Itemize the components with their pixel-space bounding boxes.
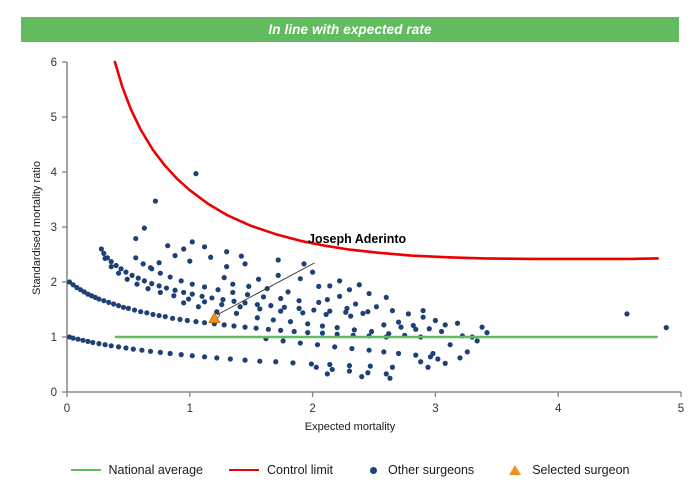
- scatter-point: [157, 283, 162, 288]
- scatter-point: [85, 339, 90, 344]
- scatter-point: [96, 296, 101, 301]
- scatter-point: [190, 282, 195, 287]
- y-tick-label: 5: [51, 112, 57, 124]
- x-tick-label: 1: [187, 403, 193, 415]
- legend-label-other-surgeons: Other surgeons: [388, 463, 474, 477]
- scatter-point: [311, 307, 316, 312]
- scatter-point: [314, 365, 319, 370]
- scatter-point: [296, 298, 301, 303]
- scatter-point: [374, 304, 379, 309]
- scatter-point: [457, 355, 462, 360]
- scatter-point: [222, 322, 227, 327]
- selected-surgeon-annotation: Joseph Aderinto: [308, 232, 406, 246]
- scatter-point: [261, 294, 266, 299]
- scatter-point: [298, 340, 303, 345]
- funnel-plot-svg: 0123456012345: [0, 0, 700, 445]
- scatter-point: [136, 276, 141, 281]
- green-line-icon: [71, 469, 101, 471]
- scatter-point: [181, 290, 186, 295]
- scatter-point: [193, 171, 198, 176]
- scatter-point: [144, 310, 149, 315]
- scatter-point: [268, 303, 273, 308]
- x-axis-title: Expected mortality: [0, 421, 700, 433]
- scatter-point: [102, 342, 107, 347]
- scatter-point: [118, 266, 123, 271]
- legend-label-selected-surgeon: Selected surgeon: [532, 463, 629, 477]
- scatter-point: [353, 301, 358, 306]
- scatter-point: [121, 305, 126, 310]
- scatter-point: [177, 317, 182, 322]
- scatter-point: [396, 351, 401, 356]
- scatter-point: [443, 361, 448, 366]
- y-tick-label: 0: [51, 387, 57, 399]
- y-tick-label: 4: [51, 167, 58, 179]
- navy-dot-icon: [370, 467, 377, 474]
- scatter-point: [228, 356, 233, 361]
- scatter-point: [337, 278, 342, 283]
- scatter-point: [301, 261, 306, 266]
- legend-item-national-average[interactable]: National average: [71, 463, 204, 477]
- scatter-point: [172, 288, 177, 293]
- scatter-point: [255, 302, 260, 307]
- scatter-point: [202, 299, 207, 304]
- scatter-point: [347, 287, 352, 292]
- scatter-point: [149, 281, 154, 286]
- scatter-point: [111, 301, 116, 306]
- scatter-point: [116, 303, 121, 308]
- scatter-point: [330, 367, 335, 372]
- scatter-point: [230, 282, 235, 287]
- scatter-point: [465, 349, 470, 354]
- scatter-point: [142, 278, 147, 283]
- scatter-point: [365, 309, 370, 314]
- scatter-point: [190, 239, 195, 244]
- x-tick-label: 2: [309, 403, 315, 415]
- scatter-point: [126, 306, 131, 311]
- scatter-point: [421, 308, 426, 313]
- scatter-point: [209, 295, 214, 300]
- scatter-point: [171, 293, 176, 298]
- scatter-point: [257, 359, 262, 364]
- scatter-point: [369, 329, 374, 334]
- scatter-point: [214, 355, 219, 360]
- scatter-point: [106, 300, 111, 305]
- scatter-point: [332, 344, 337, 349]
- scatter-point: [109, 264, 114, 269]
- scatter-point: [157, 313, 162, 318]
- chart-plot-area: 0123456012345 Expected mortality Standar…: [0, 0, 700, 445]
- scatter-point: [102, 256, 107, 261]
- y-tick-label: 6: [51, 57, 57, 69]
- scatter-point: [239, 254, 244, 259]
- scatter-point: [320, 323, 325, 328]
- scatter-point: [421, 315, 426, 320]
- scatter-point: [305, 321, 310, 326]
- scatter-point: [300, 310, 305, 315]
- chart-legend: National average Control limit Other sur…: [0, 455, 700, 485]
- legend-label-national-average: National average: [109, 463, 204, 477]
- scatter-point: [381, 322, 386, 327]
- scatter-point: [327, 362, 332, 367]
- scatter-point: [138, 309, 143, 314]
- scatter-point: [157, 260, 162, 265]
- scatter-point: [246, 284, 251, 289]
- scatter-point: [387, 376, 392, 381]
- scatter-point: [219, 302, 224, 307]
- scatter-point: [222, 275, 227, 280]
- x-tick-label: 4: [555, 403, 562, 415]
- scatter-point: [484, 330, 489, 335]
- scatter-point: [231, 299, 236, 304]
- scatter-point: [242, 261, 247, 266]
- scatter-point: [365, 370, 370, 375]
- scatter-point: [234, 311, 239, 316]
- scatter-point: [170, 316, 175, 321]
- legend-label-control-limit: Control limit: [267, 463, 333, 477]
- scatter-point: [315, 342, 320, 347]
- scatter-point: [316, 300, 321, 305]
- scatter-point: [254, 326, 259, 331]
- scatter-point: [406, 311, 411, 316]
- scatter-point: [193, 319, 198, 324]
- scatter-point: [99, 246, 104, 251]
- scatter-point: [413, 327, 418, 332]
- scatter-point: [288, 319, 293, 324]
- scatter-point: [158, 350, 163, 355]
- scatter-point: [148, 265, 153, 270]
- scatter-point: [109, 259, 114, 264]
- scatter-point: [153, 199, 158, 204]
- scatter-point: [215, 287, 220, 292]
- scatter-point: [208, 255, 213, 260]
- scatter-points-group: [67, 171, 669, 381]
- scatter-point: [320, 331, 325, 336]
- scatter-point: [185, 318, 190, 323]
- scatter-point: [224, 249, 229, 254]
- scatter-point: [158, 290, 163, 295]
- scatter-point: [133, 236, 138, 241]
- scatter-point: [123, 270, 128, 275]
- scatter-point: [164, 285, 169, 290]
- scatter-point: [278, 296, 283, 301]
- scatter-point: [145, 286, 150, 291]
- scatter-point: [242, 325, 247, 330]
- scatter-point: [273, 359, 278, 364]
- scatter-point: [172, 253, 177, 258]
- scatter-point: [296, 306, 301, 311]
- scatter-point: [664, 325, 669, 330]
- scatter-point: [390, 308, 395, 313]
- scatter-point: [271, 317, 276, 322]
- scatter-point: [305, 330, 310, 335]
- scatter-point: [276, 257, 281, 262]
- scatter-point: [220, 297, 225, 302]
- scatter-point: [292, 329, 297, 334]
- scatter-point: [168, 351, 173, 356]
- scatter-point: [624, 311, 629, 316]
- scatter-point: [396, 320, 401, 325]
- scatter-point: [266, 327, 271, 332]
- scatter-point: [357, 282, 362, 287]
- scatter-point: [165, 243, 170, 248]
- scatter-point: [455, 321, 460, 326]
- scatter-point: [398, 325, 403, 330]
- scatter-point: [256, 277, 261, 282]
- scatter-point: [281, 338, 286, 343]
- scatter-point: [202, 284, 207, 289]
- scatter-point: [290, 360, 295, 365]
- scatter-point: [335, 325, 340, 330]
- scatter-point: [257, 306, 262, 311]
- scatter-point: [179, 352, 184, 357]
- scatter-point: [96, 341, 101, 346]
- scatter-point: [132, 307, 137, 312]
- scatter-point: [109, 343, 114, 348]
- red-line-icon: [229, 469, 259, 471]
- scatter-point: [413, 353, 418, 358]
- scatter-point: [190, 292, 195, 297]
- scatter-point: [142, 226, 147, 231]
- scatter-point: [439, 329, 444, 334]
- scatter-point: [238, 304, 243, 309]
- scatter-point: [349, 346, 354, 351]
- scatter-point: [133, 255, 138, 260]
- y-tick-label: 2: [51, 277, 57, 289]
- scatter-point: [327, 283, 332, 288]
- funnel-plot-page: In line with expected rate 0123456012345…: [0, 0, 700, 500]
- scatter-point: [224, 264, 229, 269]
- x-tick-label: 0: [64, 403, 70, 415]
- scatter-point: [381, 349, 386, 354]
- scatter-point: [187, 259, 192, 264]
- scatter-point: [359, 374, 364, 379]
- scatter-point: [448, 342, 453, 347]
- scatter-point: [386, 331, 391, 336]
- scatter-point: [285, 289, 290, 294]
- scatter-point: [168, 274, 173, 279]
- scatter-point: [101, 251, 106, 256]
- scatter-point: [125, 277, 130, 282]
- scatter-point: [158, 271, 163, 276]
- legend-item-selected-surgeon[interactable]: Selected surgeon: [500, 463, 629, 477]
- scatter-point: [298, 276, 303, 281]
- control-limit-curve: [115, 62, 658, 259]
- scatter-point: [116, 344, 121, 349]
- scatter-point: [418, 359, 423, 364]
- scatter-point: [324, 312, 329, 317]
- scatter-point: [199, 294, 204, 299]
- scatter-point: [179, 278, 184, 283]
- scatter-point: [390, 365, 395, 370]
- y-tick-label: 3: [51, 222, 57, 234]
- scatter-point: [325, 297, 330, 302]
- scatter-point: [181, 300, 186, 305]
- scatter-point: [278, 309, 283, 314]
- scatter-point: [202, 244, 207, 249]
- scatter-point: [131, 347, 136, 352]
- scatter-point: [242, 358, 247, 363]
- scatter-point: [129, 273, 134, 278]
- scatter-point: [348, 314, 353, 319]
- scatter-point: [347, 363, 352, 368]
- scatter-point: [325, 371, 330, 376]
- scatter-point: [352, 327, 357, 332]
- scatter-point: [196, 304, 201, 309]
- scatter-point: [123, 345, 128, 350]
- scatter-point: [80, 338, 85, 343]
- scatter-point: [134, 282, 139, 287]
- scatter-point: [384, 371, 389, 376]
- scatter-point: [276, 273, 281, 278]
- scatter-point: [384, 295, 389, 300]
- scatter-point: [148, 349, 153, 354]
- scatter-point: [282, 305, 287, 310]
- scatter-point: [230, 290, 235, 295]
- scatter-point: [255, 315, 260, 320]
- scatter-point: [163, 314, 168, 319]
- scatter-point: [430, 351, 435, 356]
- scatter-point: [101, 298, 106, 303]
- scatter-point: [71, 336, 76, 341]
- scatter-point: [186, 296, 191, 301]
- scatter-point: [278, 328, 283, 333]
- scatter-point: [309, 361, 314, 366]
- scatter-point: [443, 322, 448, 327]
- scatter-point: [181, 246, 186, 251]
- scatter-point: [90, 340, 95, 345]
- scatter-point: [139, 348, 144, 353]
- scatter-point: [116, 271, 121, 276]
- x-tick-label: 5: [678, 403, 684, 415]
- scatter-point: [366, 348, 371, 353]
- scatter-point: [479, 325, 484, 330]
- scatter-point: [310, 270, 315, 275]
- scatter-point: [316, 284, 321, 289]
- scatter-point: [114, 263, 119, 268]
- scatter-point: [360, 311, 365, 316]
- scatter-point: [231, 323, 236, 328]
- x-tick-label: 3: [432, 403, 438, 415]
- y-tick-label: 1: [51, 332, 57, 344]
- scatter-point: [337, 294, 342, 299]
- scatter-point: [368, 364, 373, 369]
- scatter-point: [150, 312, 155, 317]
- scatter-point: [190, 353, 195, 358]
- scatter-point: [435, 356, 440, 361]
- legend-item-other-surgeons[interactable]: Other surgeons: [359, 463, 474, 477]
- scatter-point: [366, 291, 371, 296]
- y-axis-title: Standardised mortality ratio: [31, 128, 43, 328]
- scatter-point: [433, 318, 438, 323]
- scatter-point: [347, 369, 352, 374]
- scatter-point: [425, 365, 430, 370]
- scatter-point: [202, 320, 207, 325]
- scatter-point: [202, 354, 207, 359]
- scatter-point: [245, 292, 250, 297]
- legend-item-control-limit[interactable]: Control limit: [229, 463, 333, 477]
- scatter-point: [75, 337, 80, 342]
- scatter-point: [344, 306, 349, 311]
- scatter-point: [141, 261, 146, 266]
- orange-triangle-icon: [509, 465, 521, 475]
- scatter-point: [475, 338, 480, 343]
- scatter-point: [427, 326, 432, 331]
